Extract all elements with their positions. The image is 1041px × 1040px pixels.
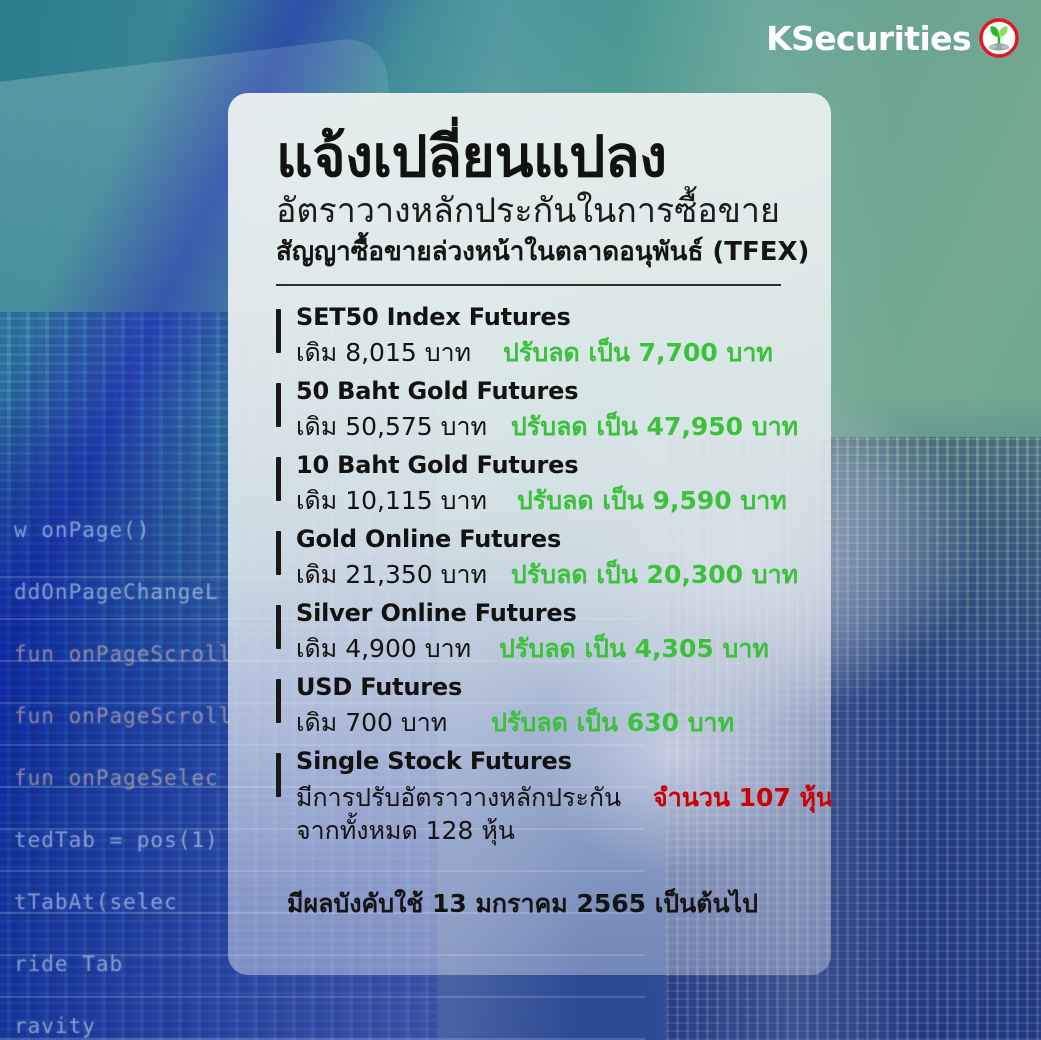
bullet-bar-icon xyxy=(276,383,281,427)
effective-date-note: มีผลบังคับใช้ 13 มกราคม 2565 เป็นต้นไป xyxy=(276,884,787,924)
item-values: เดิม 10,115 บาท ปรับลด เป็น 9,590 บาท xyxy=(296,485,787,518)
item-new-value: ปรับลด เป็น 47,950 บาท xyxy=(511,412,798,441)
item-name: Single Stock Futures xyxy=(296,746,787,778)
ssf-total-count: จากทั้งหมด 128 หุ้น xyxy=(296,814,787,848)
poster-root: w onPage() ddOnPageChangeL fun onPageScr… xyxy=(0,0,1041,1040)
header-divider xyxy=(276,284,781,286)
item-values: เดิม 21,350 บาท ปรับลด เป็น 20,300 บาท xyxy=(296,559,787,592)
item-old-value: เดิม 21,350 บาท xyxy=(296,560,487,589)
item-values: เดิม 8,015 บาท ปรับลด เป็น 7,700 บาท xyxy=(296,337,787,370)
bullet-bar-icon xyxy=(276,679,281,723)
item-new-value: ปรับลด เป็น 9,590 บาท xyxy=(517,486,787,515)
ksecurities-seedling-icon xyxy=(979,18,1019,58)
ssf-adjusted-count: จำนวน 107 หุ้น xyxy=(653,783,831,812)
list-item: 10 Baht Gold Futures เดิม 10,115 บาท ปรั… xyxy=(276,450,787,524)
item-old-value: เดิม 8,015 บาท xyxy=(296,338,471,367)
item-old-value: เดิม 4,900 บาท xyxy=(296,634,471,663)
item-name: USD Futures xyxy=(296,672,787,704)
item-name: SET50 Index Futures xyxy=(296,302,787,334)
list-item: SET50 Index Futures เดิม 8,015 บาท ปรับล… xyxy=(276,302,787,376)
list-item: USD Futures เดิม 700 บาท ปรับลด เป็น 630… xyxy=(276,672,787,746)
brand-logo: KSecurities xyxy=(766,18,1019,58)
item-new-value: ปรับลด เป็น 630 บาท xyxy=(491,708,734,737)
item-values: เดิม 4,900 บาท ปรับลด เป็น 4,305 บาท xyxy=(296,633,787,666)
item-name: 50 Baht Gold Futures xyxy=(296,376,787,408)
bullet-bar-icon xyxy=(276,531,281,575)
futures-list: SET50 Index Futures เดิม 8,015 บาท ปรับล… xyxy=(276,302,787,848)
page-title: แจ้งเปลี่ยนแปลง xyxy=(276,127,787,189)
item-name: Gold Online Futures xyxy=(296,524,787,556)
page-subtitle-secondary: สัญญาซื้อขายล่วงหน้าในตลาดอนุพันธ์ (TFEX… xyxy=(276,236,787,268)
brand-logo-text: KSecurities xyxy=(766,22,971,55)
list-item: Gold Online Futures เดิม 21,350 บาท ปรับ… xyxy=(276,524,787,598)
bullet-bar-icon xyxy=(276,309,281,353)
ssf-description: มีการปรับอัตราวางหลักประกัน xyxy=(296,783,621,812)
item-new-value: ปรับลด เป็น 7,700 บาท xyxy=(503,338,773,367)
announcement-card: แจ้งเปลี่ยนแปลง อัตราวางหลักประกันในการซ… xyxy=(228,93,831,975)
item-old-value: เดิม 50,575 บาท xyxy=(296,412,487,441)
list-item: 50 Baht Gold Futures เดิม 50,575 บาท ปรั… xyxy=(276,376,787,450)
item-values: มีการปรับอัตราวางหลักประกัน จำนวน 107 หุ… xyxy=(296,781,787,815)
bullet-bar-icon xyxy=(276,457,281,501)
item-new-value: ปรับลด เป็น 20,300 บาท xyxy=(511,560,798,589)
list-item: Silver Online Futures เดิม 4,900 บาท ปรั… xyxy=(276,598,787,672)
page-subtitle: อัตราวางหลักประกันในการซื้อขาย xyxy=(276,191,787,232)
item-values: เดิม 50,575 บาท ปรับลด เป็น 47,950 บาท xyxy=(296,411,787,444)
item-old-value: เดิม 700 บาท xyxy=(296,708,447,737)
bullet-bar-icon xyxy=(276,605,281,649)
item-old-value: เดิม 10,115 บาท xyxy=(296,486,487,515)
bullet-bar-icon xyxy=(276,753,281,797)
list-item-single-stock-futures: Single Stock Futures มีการปรับอัตราวางหล… xyxy=(276,746,787,848)
item-name: 10 Baht Gold Futures xyxy=(296,450,787,482)
item-new-value: ปรับลด เป็น 4,305 บาท xyxy=(499,634,769,663)
item-name: Silver Online Futures xyxy=(296,598,787,630)
item-values: เดิม 700 บาท ปรับลด เป็น 630 บาท xyxy=(296,707,787,740)
